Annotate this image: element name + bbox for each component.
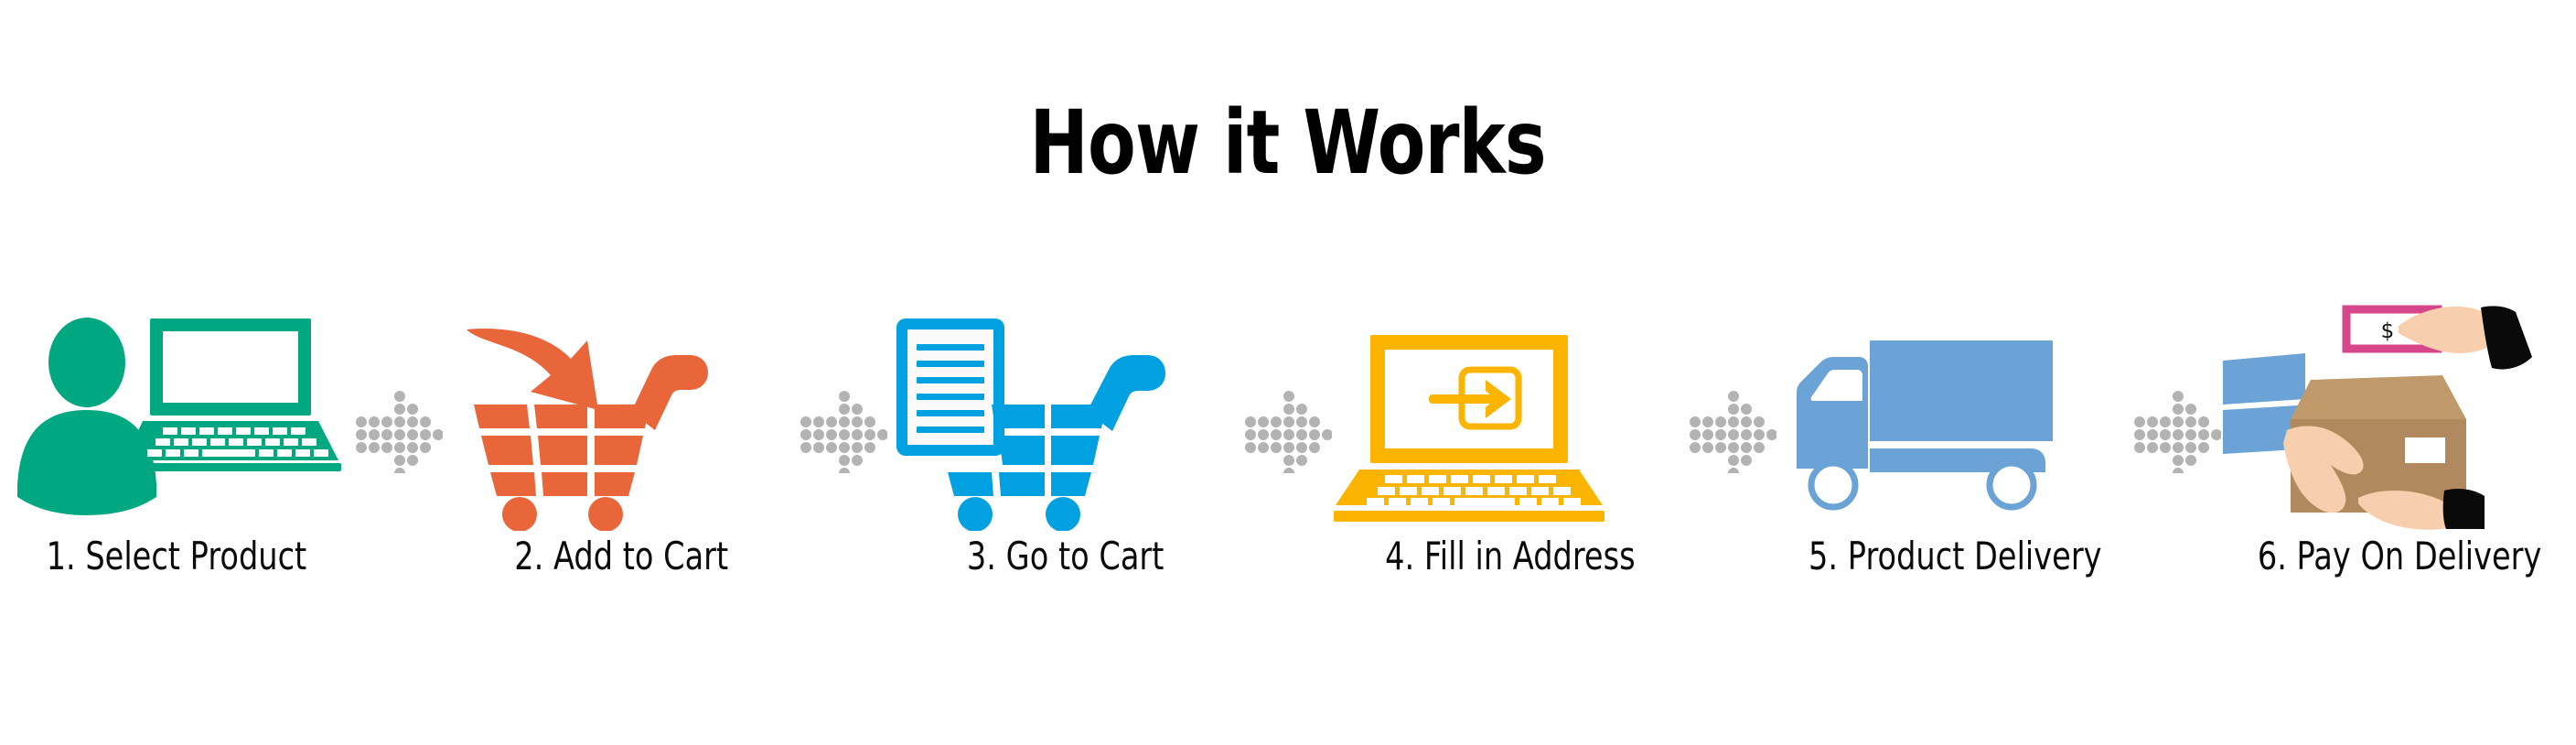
connector-5-6 — [2133, 302, 2221, 632]
steps-row: 1. Select Product — [0, 302, 2576, 632]
dollar-symbol: $ — [2381, 319, 2395, 343]
step-1-label: 1. Select Product — [47, 536, 307, 577]
step-6-label: 6. Pay On Delivery — [2258, 536, 2542, 577]
delivery-truck-icon — [1776, 302, 2133, 531]
page-title-container: How it Works — [0, 99, 2576, 187]
step-3-go-to-cart[interactable]: 3. Go to Cart — [887, 302, 1244, 632]
step-4-fill-in-address[interactable]: 4. Fill in Address — [1332, 302, 1689, 632]
step-2-add-to-cart[interactable]: 2. Add to Cart — [443, 302, 800, 632]
step-5-label: 5. Product Delivery — [1809, 536, 2101, 577]
connector-4-5 — [1689, 302, 1776, 632]
arrow-into-shopping-cart-icon — [443, 302, 800, 531]
step-1-select-product[interactable]: 1. Select Product — [0, 302, 355, 632]
page-title: How it Works — [1030, 99, 1546, 187]
connector-1-2 — [355, 302, 443, 632]
connector-2-3 — [800, 302, 887, 632]
dotted-arrow-right-icon — [1689, 389, 1776, 473]
step-3-label: 3. Go to Cart — [967, 536, 1164, 577]
hands-exchanging-box-and-cash-icon: $ — [2221, 302, 2576, 531]
laptop-with-login-arrow-icon — [1332, 302, 1689, 531]
how-it-works-infographic: How it Works — [0, 0, 2576, 745]
step-4-label: 4. Fill in Address — [1385, 536, 1635, 577]
person-at-laptop-icon — [0, 302, 355, 531]
dotted-arrow-right-icon — [2133, 389, 2221, 473]
dotted-arrow-right-icon — [800, 389, 887, 473]
dotted-arrow-right-icon — [355, 389, 443, 473]
dotted-arrow-right-icon — [1244, 389, 1332, 473]
step-6-pay-on-delivery[interactable]: $ — [2221, 302, 2576, 632]
step-2-label: 2. Add to Cart — [514, 536, 728, 577]
document-and-shopping-cart-icon — [887, 302, 1244, 531]
step-5-product-delivery[interactable]: 5. Product Delivery — [1776, 302, 2133, 632]
connector-3-4 — [1244, 302, 1332, 632]
